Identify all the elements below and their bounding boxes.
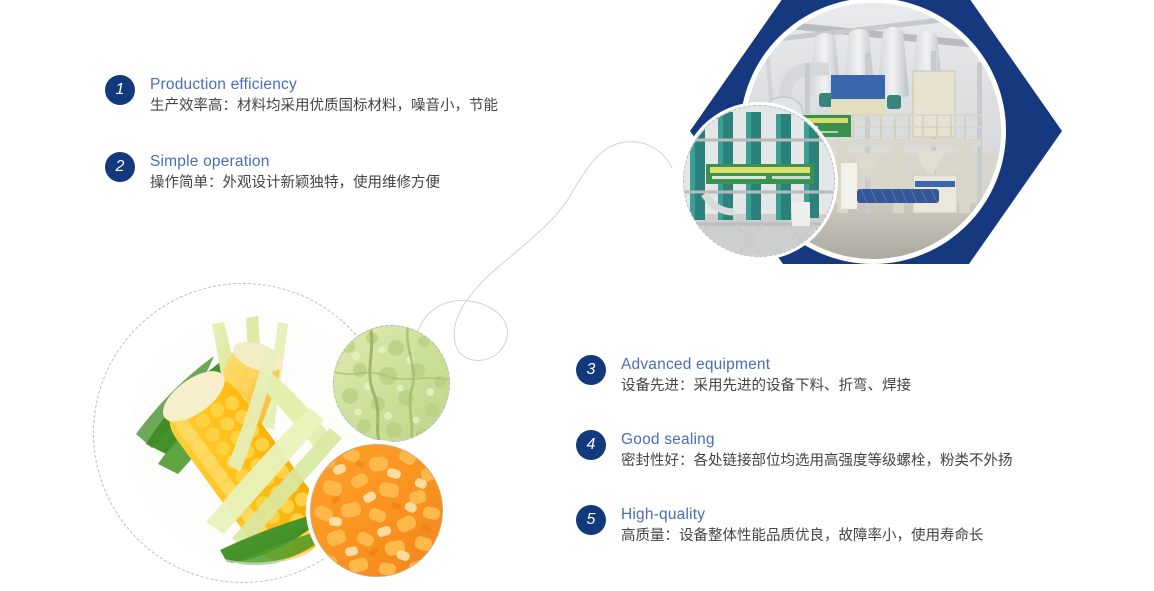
feature-text-block: Simple operation 操作简单：外观设计新颖独特，使用维修方便 bbox=[150, 152, 440, 194]
feature-heading: Good sealing bbox=[621, 430, 1013, 450]
teal-milling-machinery-photo bbox=[683, 105, 835, 257]
feature-item-2[interactable]: 2 Simple operation 操作简单：外观设计新颖独特，使用维修方便 bbox=[105, 152, 440, 194]
feature-number-badge: 3 bbox=[576, 355, 606, 385]
feature-number-badge: 2 bbox=[105, 152, 135, 182]
feature-item-4[interactable]: 4 Good sealing 密封性好：各处链接部位均选用高强度等级螺栓，粉类不… bbox=[576, 430, 1013, 472]
feature-item-3[interactable]: 3 Advanced equipment 设备先进：采用先进的设备下料、折弯、焊… bbox=[576, 355, 911, 397]
feature-description: 设备先进：采用先进的设备下料、折弯、焊接 bbox=[621, 375, 911, 397]
feature-text-block: Production efficiency 生产效率高：材料均采用优质国标材料，… bbox=[150, 75, 498, 117]
feature-item-5[interactable]: 5 High-quality 高质量：设备整体性能品质优良，故障率小，使用寿命长 bbox=[576, 505, 984, 547]
feature-description: 操作简单：外观设计新颖独特，使用维修方便 bbox=[150, 172, 440, 194]
feature-text-block: Advanced equipment 设备先进：采用先进的设备下料、折弯、焊接 bbox=[621, 355, 911, 397]
feature-description: 高质量：设备整体性能品质优良，故障率小，使用寿命长 bbox=[621, 525, 984, 547]
feature-number-badge: 5 bbox=[576, 505, 606, 535]
feature-heading: Production efficiency bbox=[150, 75, 498, 95]
infographic-canvas: 1 Production efficiency 生产效率高：材料均采用优质国标材… bbox=[0, 0, 1154, 591]
orange-corn-grits-photo bbox=[310, 444, 443, 577]
feature-description: 密封性好：各处链接部位均选用高强度等级螺栓，粉类不外扬 bbox=[621, 450, 1013, 472]
green-corn-paste-photo bbox=[333, 325, 450, 442]
feature-number-badge: 4 bbox=[576, 430, 606, 460]
feature-number-badge: 1 bbox=[105, 75, 135, 105]
feature-heading: Simple operation bbox=[150, 152, 440, 172]
feature-heading: Advanced equipment bbox=[621, 355, 911, 375]
feature-item-1[interactable]: 1 Production efficiency 生产效率高：材料均采用优质国标材… bbox=[105, 75, 498, 117]
feature-text-block: Good sealing 密封性好：各处链接部位均选用高强度等级螺栓，粉类不外扬 bbox=[621, 430, 1013, 472]
feature-description: 生产效率高：材料均采用优质国标材料，噪音小，节能 bbox=[150, 95, 498, 117]
feature-heading: High-quality bbox=[621, 505, 984, 525]
feature-text-block: High-quality 高质量：设备整体性能品质优良，故障率小，使用寿命长 bbox=[621, 505, 984, 547]
